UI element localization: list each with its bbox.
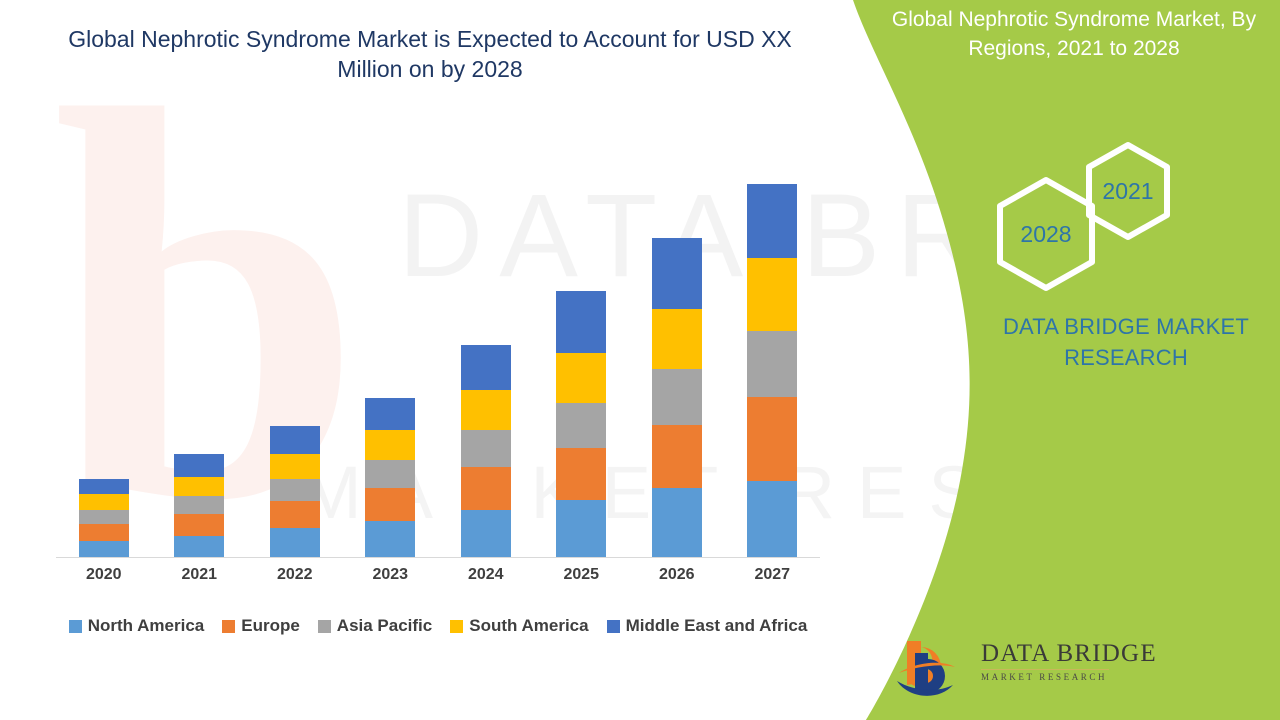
bar-segment [270, 501, 320, 528]
company-logo: DATA BRIDGE MARKET RESEARCH [893, 637, 1108, 699]
bar-column [56, 120, 151, 558]
bar-column [343, 120, 438, 558]
bar-segment [461, 345, 511, 390]
chart-title: Global Nephrotic Syndrome Market is Expe… [40, 24, 820, 85]
bar-segment [174, 454, 224, 477]
bar-segment [747, 184, 797, 258]
bar-column [152, 120, 247, 558]
legend-swatch-icon [69, 620, 82, 633]
x-axis-label: 2020 [56, 566, 151, 584]
bar-segment [365, 460, 415, 488]
legend-swatch-icon [318, 620, 331, 633]
logo-mark-icon [893, 637, 975, 699]
x-axis-label: 2023 [343, 566, 438, 584]
logo-main-text: DATA BRIDGE [981, 641, 1111, 667]
bar-column [438, 120, 533, 558]
bar-segment [461, 390, 511, 430]
hexagon-2028-label: 2028 [1020, 221, 1071, 248]
bar-segment [461, 467, 511, 510]
bar-stack-2024 [461, 345, 511, 558]
x-axis-line [56, 557, 820, 558]
bar-segment [461, 510, 511, 558]
legend-label: Middle East and Africa [626, 616, 808, 636]
bar-segment [747, 331, 797, 397]
legend-item[interactable]: South America [450, 616, 588, 636]
bar-segment [556, 291, 606, 353]
legend-label: North America [88, 616, 205, 636]
slide-root: b DATA BRIDGE MARKET RESEARCH Global Nep… [0, 0, 1280, 720]
bar-segment [270, 454, 320, 479]
bar-stack-2021 [174, 454, 224, 558]
bar-stack-2025 [556, 291, 606, 558]
legend-item[interactable]: Middle East and Africa [607, 616, 808, 636]
hexagon-group: 2028 2021 [985, 145, 1185, 275]
bar-segment [747, 481, 797, 558]
bar-segment [747, 258, 797, 331]
bar-stack-2020 [79, 479, 129, 558]
bar-segment [652, 488, 702, 558]
x-axis-label: 2025 [534, 566, 629, 584]
bar-segment [652, 238, 702, 309]
green-panel-title: Global Nephrotic Syndrome Market, By Reg… [872, 6, 1276, 64]
legend-item[interactable]: Asia Pacific [318, 616, 432, 636]
bar-column [534, 120, 629, 558]
bar-segment [556, 448, 606, 500]
bar-segment [652, 369, 702, 425]
bar-stack-2022 [270, 426, 320, 558]
bar-segment [365, 488, 415, 521]
bar-segment [174, 536, 224, 558]
bar-segment [556, 353, 606, 403]
bar-stack-2023 [365, 398, 415, 558]
bar-segment [174, 514, 224, 536]
bar-segment [652, 309, 702, 369]
bar-segment [79, 479, 129, 494]
legend-item[interactable]: North America [69, 616, 205, 636]
logo-sub-text: MARKET RESEARCH [981, 672, 1111, 682]
legend-swatch-icon [607, 620, 620, 633]
legend-swatch-icon [450, 620, 463, 633]
bar-segment [79, 524, 129, 541]
bar-column [725, 120, 820, 558]
bar-segment [556, 403, 606, 448]
bar-segment [461, 430, 511, 467]
brand-name-text: DATA BRIDGE MARKET RESEARCH [978, 311, 1274, 373]
x-axis-tick-labels: 20202021202220232024202520262027 [56, 566, 820, 584]
bar-segment [174, 496, 224, 514]
bar-segment [270, 528, 320, 558]
bar-chart-plot-area [56, 120, 820, 558]
bar-segment [652, 425, 702, 488]
logo-divider [981, 669, 1109, 670]
bar-segment [174, 477, 224, 496]
bar-segment [365, 521, 415, 558]
x-axis-label: 2027 [725, 566, 820, 584]
bar-column [247, 120, 342, 558]
logo-wordmark: DATA BRIDGE MARKET RESEARCH [981, 641, 1111, 682]
legend-label: South America [469, 616, 588, 636]
bar-segment [79, 541, 129, 558]
bar-column [629, 120, 724, 558]
bar-segment [79, 494, 129, 510]
x-axis-label: 2024 [438, 566, 533, 584]
bar-segment [556, 500, 606, 558]
bar-stack-2027 [747, 184, 797, 558]
x-axis-label: 2021 [152, 566, 247, 584]
chart-panel: Global Nephrotic Syndrome Market is Expe… [0, 0, 860, 720]
chart-legend: North AmericaEuropeAsia PacificSouth Ame… [46, 616, 830, 636]
bar-segment [747, 397, 797, 481]
bar-segment [270, 426, 320, 454]
legend-swatch-icon [222, 620, 235, 633]
bar-segment [365, 398, 415, 430]
bar-stack-2026 [652, 238, 702, 558]
hexagon-2021: 2021 [1083, 141, 1173, 241]
bar-segment [365, 430, 415, 460]
legend-label: Europe [241, 616, 300, 636]
x-axis-label: 2026 [629, 566, 724, 584]
bar-segment [79, 510, 129, 524]
bar-segment [270, 479, 320, 501]
legend-item[interactable]: Europe [222, 616, 300, 636]
x-axis-label: 2022 [247, 566, 342, 584]
hexagon-2021-label: 2021 [1102, 178, 1153, 205]
legend-label: Asia Pacific [337, 616, 432, 636]
